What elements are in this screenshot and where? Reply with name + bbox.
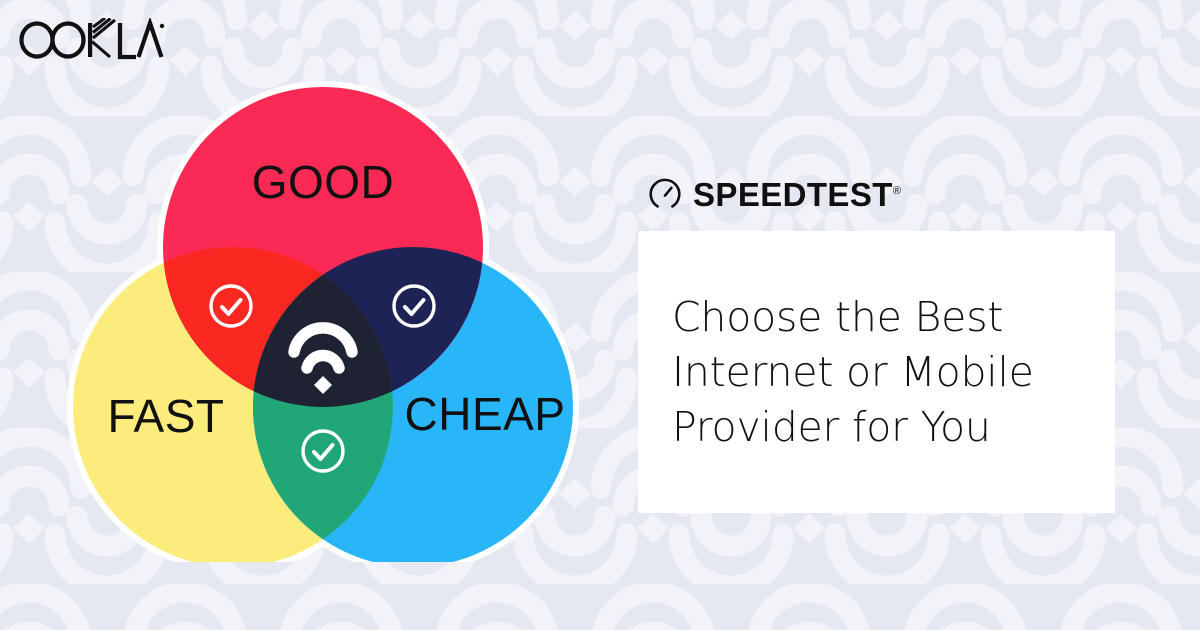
promo-graphic: GOOD FAST CHEAP SPEEDTE — [0, 0, 1200, 630]
speedtest-wordmark: SPEEDTEST® — [693, 178, 901, 211]
venn-label-fast: FAST — [107, 390, 224, 442]
headline-line-2: Internet or Mobile — [672, 345, 1034, 400]
venn-label-cheap: CHEAP — [405, 388, 566, 440]
headline-line-1: Choose the Best — [672, 290, 1034, 345]
speedtest-wordmark-text: SPEEDTEST — [693, 176, 893, 213]
headline-card: Choose the Best Internet or Mobile Provi… — [638, 231, 1115, 513]
venn-label-good: GOOD — [252, 156, 395, 208]
speedtest-trademark-symbol: ® — [893, 185, 901, 197]
headline-line-3: Provider for You — [672, 400, 1034, 455]
ookla-logo — [16, 18, 166, 62]
page-title: Choose the Best Internet or Mobile Provi… — [672, 290, 1034, 455]
speedometer-gauge-icon — [648, 177, 682, 211]
promo-right-panel: SPEEDTEST® Choose the Best Internet or M… — [638, 170, 1118, 513]
venn-diagram: GOOD FAST CHEAP — [48, 62, 598, 562]
speedtest-logo[interactable]: SPEEDTEST® — [648, 170, 1118, 218]
